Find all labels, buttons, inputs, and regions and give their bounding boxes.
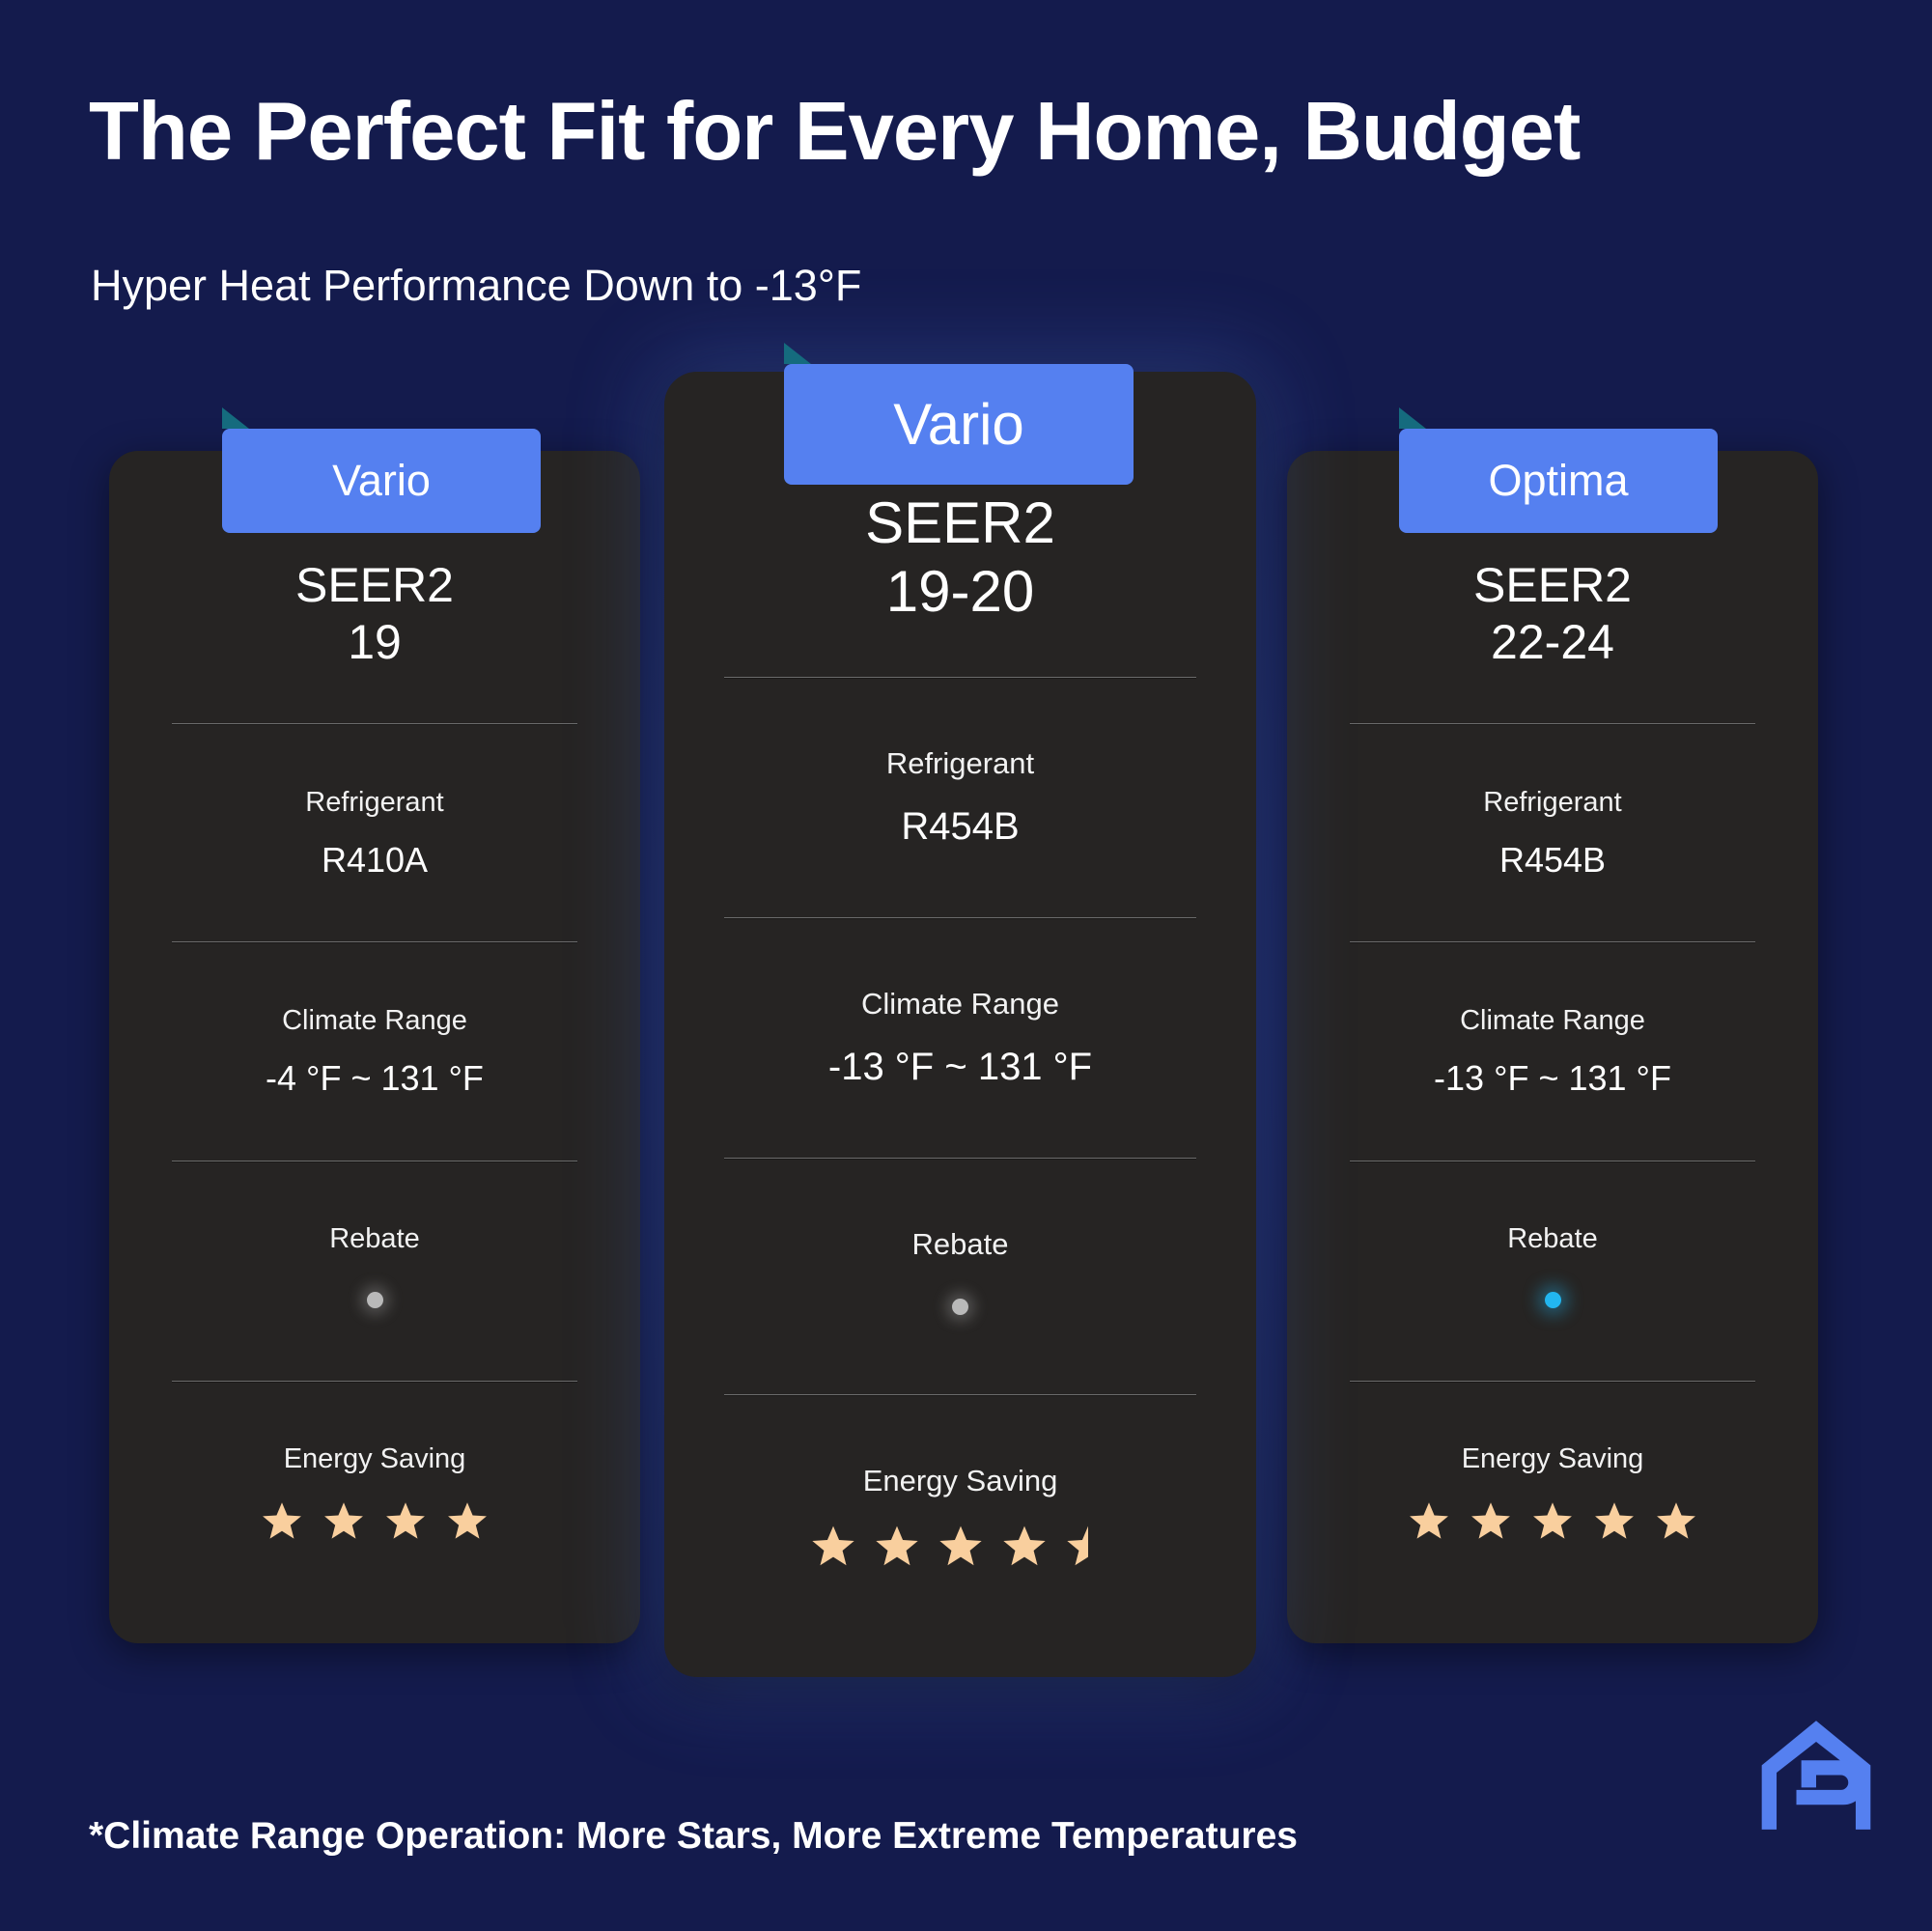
energy-saving-stars bbox=[1407, 1498, 1698, 1543]
refrigerant-label: Refrigerant bbox=[1483, 787, 1621, 819]
half-star-icon bbox=[1064, 1522, 1112, 1570]
row-rebate: Rebate bbox=[172, 1162, 577, 1381]
row-climate-range: Climate Range -13 °F ~ 131 °F bbox=[724, 919, 1196, 1158]
ribbon-badge-vario-featured[interactable]: Vario bbox=[784, 364, 1134, 485]
star-icon bbox=[1469, 1498, 1513, 1543]
star-icon bbox=[809, 1522, 857, 1570]
rebate-dot-wrap bbox=[952, 1287, 968, 1326]
star-icon bbox=[322, 1498, 366, 1543]
row-climate-range: Climate Range -4 °F ~ 131 °F bbox=[172, 943, 577, 1160]
row-climate-range: Climate Range -13 °F ~ 131 °F bbox=[1350, 943, 1755, 1160]
star-icon bbox=[1530, 1498, 1575, 1543]
climate-range-label: Climate Range bbox=[1460, 1005, 1645, 1037]
seer2-value: 22-24 bbox=[1491, 614, 1614, 671]
row-rebate: Rebate bbox=[724, 1160, 1196, 1394]
row-refrigerant: Refrigerant R454B bbox=[1350, 725, 1755, 941]
footer-note: *Climate Range Operation: More Stars, Mo… bbox=[89, 1815, 1298, 1858]
rebate-dot-icon bbox=[1545, 1292, 1561, 1308]
rebate-dot-wrap bbox=[367, 1280, 383, 1319]
energy-saving-stars bbox=[809, 1522, 1112, 1570]
rebate-label: Rebate bbox=[912, 1227, 1009, 1262]
ribbon-fold-icon bbox=[1399, 407, 1426, 429]
refrigerant-label: Refrigerant bbox=[886, 746, 1034, 781]
star-icon bbox=[260, 1498, 304, 1543]
star-icon bbox=[937, 1522, 985, 1570]
refrigerant-value: R410A bbox=[322, 840, 428, 881]
rebate-dot-icon bbox=[367, 1292, 383, 1308]
ribbon-label: Vario bbox=[893, 391, 1024, 458]
seer2-label: SEER2 bbox=[865, 490, 1055, 558]
row-energy-saving: Energy Saving bbox=[1350, 1383, 1755, 1605]
climate-range-value: -4 °F ~ 131 °F bbox=[266, 1058, 484, 1099]
climate-range-value: -13 °F ~ 131 °F bbox=[828, 1046, 1092, 1089]
star-icon bbox=[873, 1522, 921, 1570]
row-refrigerant: Refrigerant R454B bbox=[724, 679, 1196, 917]
energy-saving-label: Energy Saving bbox=[284, 1443, 466, 1475]
energy-saving-label: Energy Saving bbox=[863, 1464, 1058, 1498]
house-logo-icon bbox=[1754, 1711, 1878, 1834]
seer2-value: 19 bbox=[348, 614, 402, 671]
comparison-cards: SEER2 19 Refrigerant R410A Climate Range… bbox=[0, 0, 1932, 1931]
star-icon bbox=[1654, 1498, 1698, 1543]
product-card-vario-basic[interactable]: SEER2 19 Refrigerant R410A Climate Range… bbox=[109, 451, 640, 1643]
row-rebate: Rebate bbox=[1350, 1162, 1755, 1381]
climate-range-label: Climate Range bbox=[282, 1005, 467, 1037]
ribbon-fold-icon bbox=[784, 343, 811, 364]
row-energy-saving: Energy Saving bbox=[172, 1383, 577, 1605]
rebate-dot-wrap bbox=[1545, 1280, 1561, 1319]
row-refrigerant: Refrigerant R410A bbox=[172, 725, 577, 941]
rebate-label: Rebate bbox=[1507, 1223, 1598, 1255]
rebate-dot-icon bbox=[952, 1299, 968, 1315]
seer2-label: SEER2 bbox=[1473, 557, 1632, 614]
product-card-optima[interactable]: SEER2 22-24 Refrigerant R454B Climate Ra… bbox=[1287, 451, 1818, 1643]
star-icon bbox=[1000, 1522, 1049, 1570]
refrigerant-value: R454B bbox=[1499, 840, 1606, 881]
ribbon-fold-icon bbox=[222, 407, 249, 429]
refrigerant-label: Refrigerant bbox=[305, 787, 443, 819]
refrigerant-value: R454B bbox=[901, 805, 1019, 849]
ribbon-badge-optima[interactable]: Optima bbox=[1399, 429, 1718, 533]
row-energy-saving: Energy Saving bbox=[724, 1396, 1196, 1638]
energy-saving-label: Energy Saving bbox=[1462, 1443, 1644, 1475]
ribbon-label: Vario bbox=[332, 456, 431, 506]
seer2-label: SEER2 bbox=[295, 557, 454, 614]
climate-range-value: -13 °F ~ 131 °F bbox=[1434, 1058, 1671, 1099]
star-icon bbox=[1592, 1498, 1637, 1543]
climate-range-label: Climate Range bbox=[861, 987, 1059, 1021]
star-icon bbox=[445, 1498, 490, 1543]
product-card-vario-featured[interactable]: SEER2 19-20 Refrigerant R454B Climate Ra… bbox=[664, 372, 1256, 1677]
energy-saving-stars bbox=[260, 1498, 490, 1543]
star-icon bbox=[1407, 1498, 1451, 1543]
ribbon-label: Optima bbox=[1488, 456, 1628, 506]
ribbon-badge-vario-basic[interactable]: Vario bbox=[222, 429, 541, 533]
star-icon bbox=[383, 1498, 428, 1543]
seer2-value: 19-20 bbox=[886, 558, 1034, 627]
rebate-label: Rebate bbox=[329, 1223, 420, 1255]
